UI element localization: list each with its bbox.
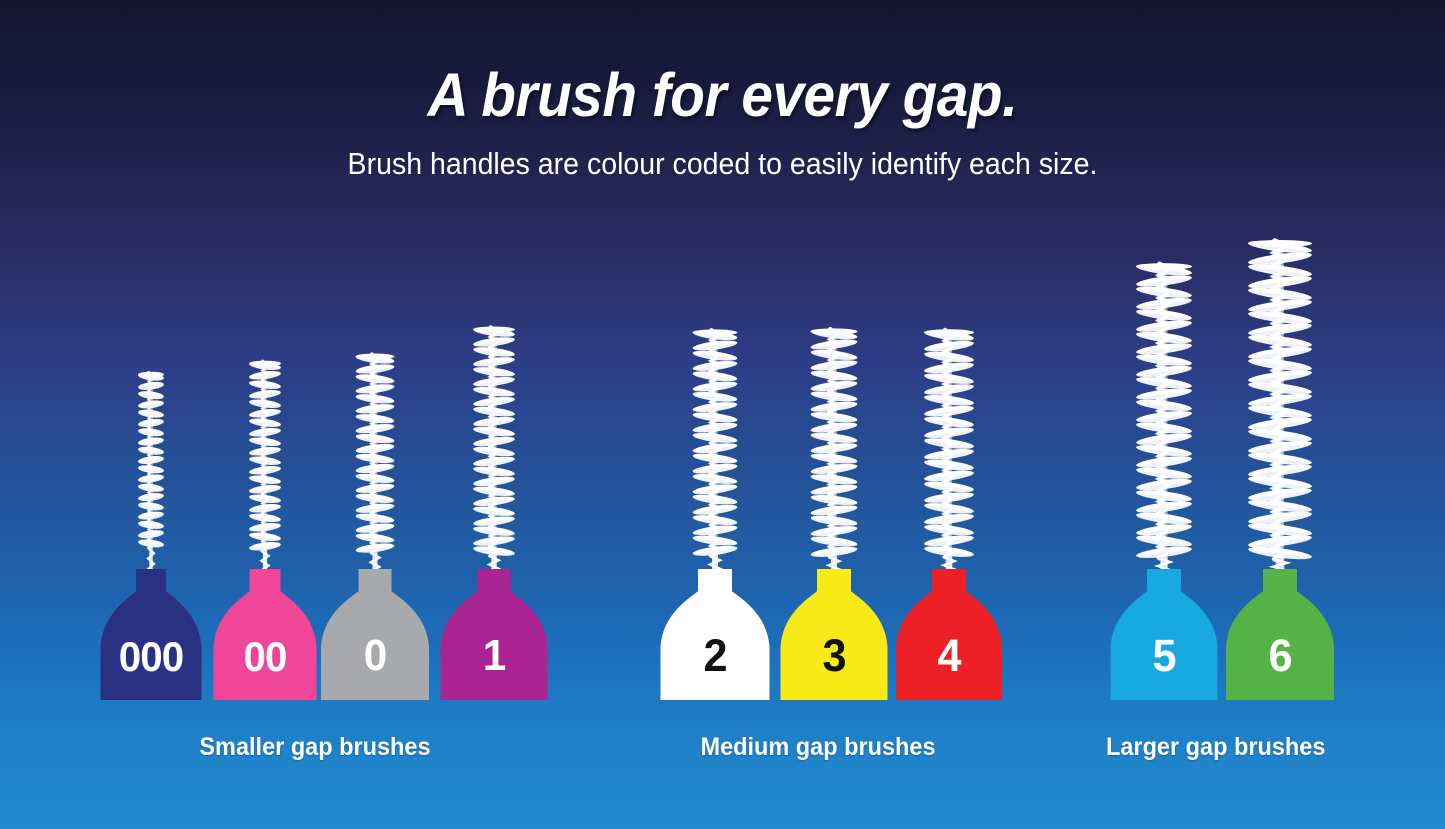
brush-handle-5: 5 bbox=[1110, 569, 1217, 700]
handle-size-label: 1 bbox=[442, 634, 545, 678]
brush-bristle-head bbox=[1238, 241, 1322, 590]
poster-canvas: A brush for every gap. Brush handles are… bbox=[0, 0, 1445, 829]
brush-handle-3: 3 bbox=[780, 569, 887, 700]
brush-bristle-head bbox=[239, 361, 291, 590]
group-caption-smaller: Smaller gap brushes bbox=[199, 733, 430, 762]
handle-size-label: 2 bbox=[662, 633, 767, 678]
brush-bristle-head bbox=[128, 372, 174, 590]
brush-bristle-head bbox=[914, 330, 984, 590]
brush-handle-000: 000 bbox=[100, 569, 201, 700]
brush-bristle-head bbox=[463, 327, 525, 590]
brush-handle-6: 6 bbox=[1226, 569, 1334, 700]
handle-size-label: 000 bbox=[102, 636, 199, 678]
handle-size-label: 0 bbox=[323, 634, 427, 678]
page-title: A brush for every gap. bbox=[51, 60, 1395, 130]
group-caption-larger: Larger gap brushes bbox=[1106, 733, 1325, 762]
brush-handle-0: 0 bbox=[321, 569, 429, 700]
brush-bristle-head bbox=[682, 330, 747, 590]
brush-bristle-head bbox=[346, 354, 405, 590]
group-caption-medium: Medium gap brushes bbox=[701, 733, 936, 762]
handle-size-label: 00 bbox=[215, 636, 314, 678]
handle-size-label: 4 bbox=[898, 633, 1000, 678]
page-subtitle: Brush handles are colour coded to easily… bbox=[58, 146, 1387, 182]
brush-handle-4: 4 bbox=[896, 569, 1002, 700]
handle-size-label: 5 bbox=[1112, 633, 1215, 678]
handle-size-label: 3 bbox=[782, 633, 885, 678]
brush-bristle-head bbox=[800, 329, 867, 590]
brush-bristle-head bbox=[1126, 264, 1202, 590]
brush-handle-2: 2 bbox=[660, 569, 769, 700]
brush-handle-1: 1 bbox=[440, 569, 547, 700]
brush-handle-00: 00 bbox=[213, 569, 316, 700]
handle-size-label: 6 bbox=[1228, 633, 1332, 678]
